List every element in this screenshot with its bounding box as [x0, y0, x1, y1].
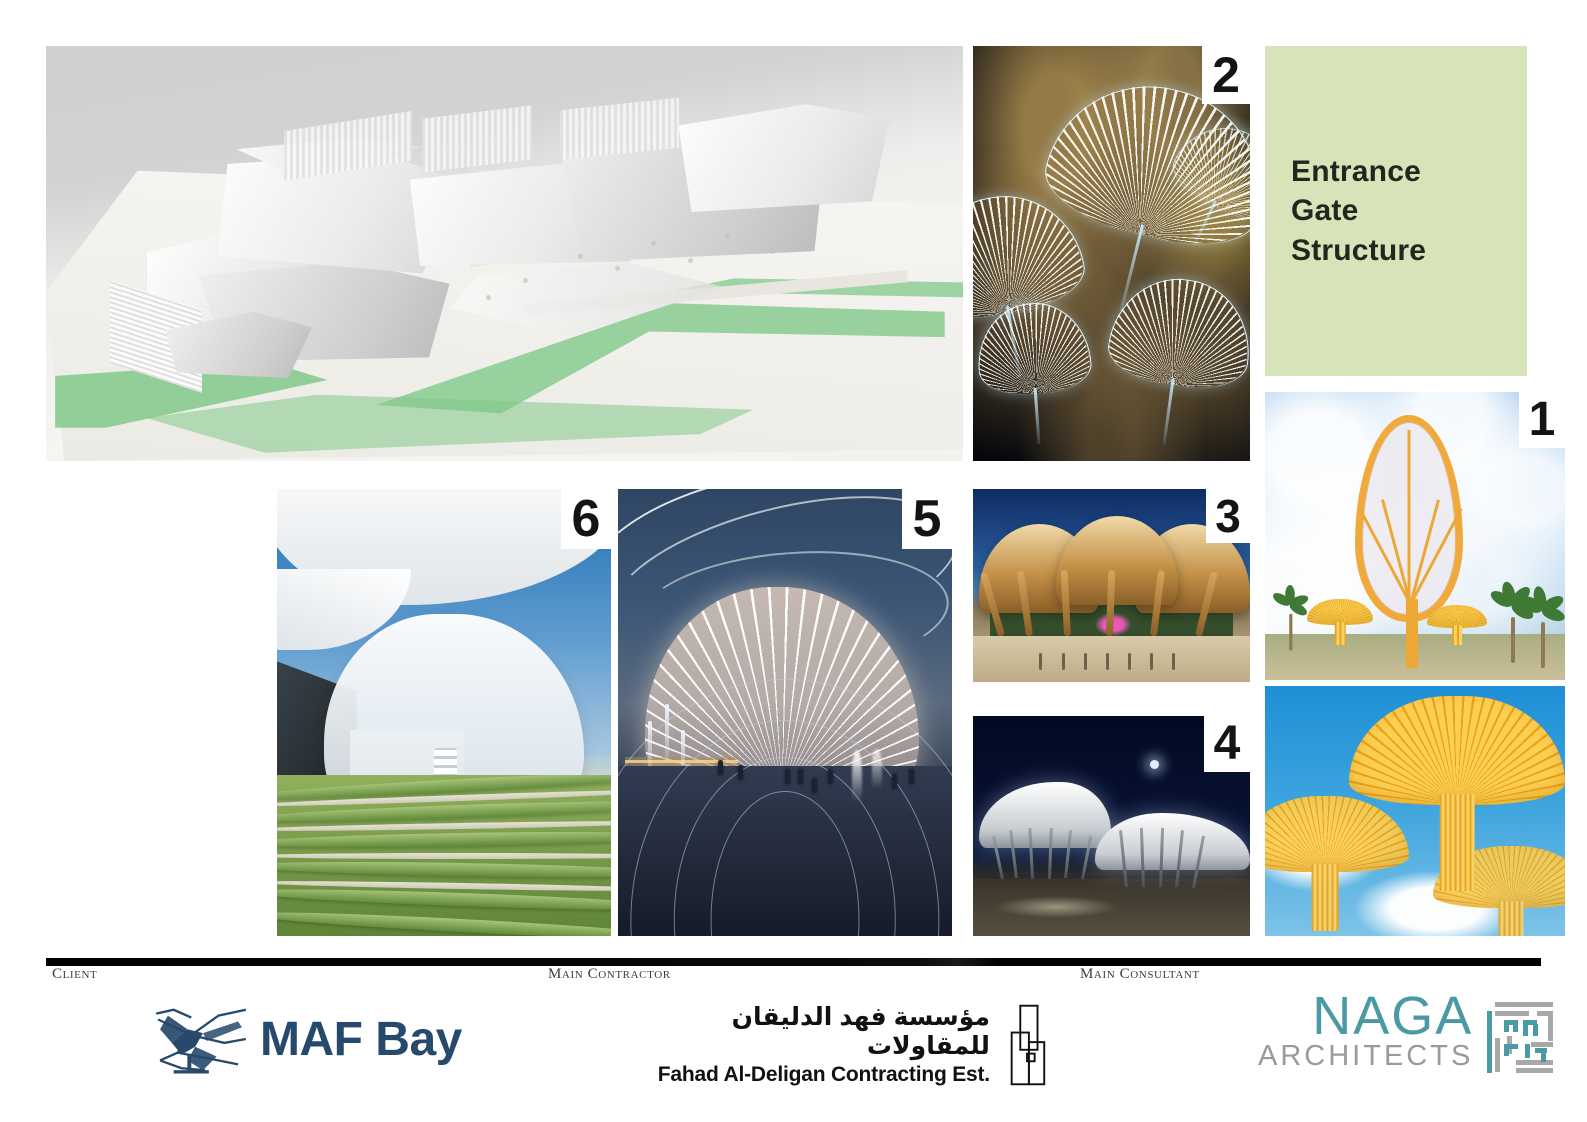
naga-kufic-mark-icon — [1485, 998, 1563, 1076]
small-parasol — [1307, 599, 1373, 645]
footer-contractor-column: Main Contractor مؤسسة فهد الدليقان للمقا… — [548, 966, 1048, 1122]
tile-badge-1: 1 — [1519, 392, 1565, 448]
fan-canopy — [974, 300, 1094, 448]
shell-canopy — [1095, 813, 1250, 870]
naga-subtitle: ARCHITECTS — [1258, 1042, 1473, 1071]
contractor-label: Main Contractor — [548, 966, 1048, 983]
palm-tree — [1529, 604, 1555, 668]
client-label: Client — [52, 966, 532, 983]
facade-louver — [422, 106, 532, 173]
tile-badge-5: 5 — [902, 489, 952, 549]
white-tensile-canopy-garden-render: 6 — [277, 489, 611, 936]
maf-bay-wordmark: MAF Bay — [260, 1012, 462, 1067]
parasol-canopy — [1349, 696, 1565, 891]
presentation-board: 2 Entrance Gate Structure — [0, 0, 1587, 1122]
title-line-2: Gate — [1291, 191, 1426, 231]
tile-badge-4: 4 — [1204, 716, 1250, 772]
small-parasol — [1427, 605, 1487, 645]
building-block — [670, 104, 890, 212]
leaf-gate-trunk — [1406, 599, 1418, 668]
maf-bay-mark-icon — [148, 1000, 256, 1078]
moon — [1150, 760, 1159, 769]
contractor-name-arabic: مؤسسة فهد الدليقان للمقاولات — [618, 1003, 990, 1062]
fahad-al-deligan-logo: مؤسسة فهد الدليقان للمقاولات Fahad Al-De… — [618, 1002, 1048, 1088]
plaza-floor — [618, 766, 952, 936]
footer-client-column: Client — [52, 966, 532, 1122]
title-panel: Entrance Gate Structure — [1265, 46, 1527, 376]
tile-badge-2: 2 — [1202, 46, 1250, 104]
footer-divider — [46, 958, 1541, 966]
title-line-3: Structure — [1291, 231, 1426, 271]
night-shell-canopy-photo: 4 — [973, 716, 1250, 936]
footer: Client — [0, 966, 1587, 1122]
hedge-garden — [277, 775, 611, 936]
title-line-1: Entrance — [1291, 152, 1426, 192]
paving — [973, 636, 1250, 682]
fan-canopy — [1096, 270, 1250, 454]
contractor-building-mark-icon — [1004, 1002, 1048, 1088]
footer-consultant-column: Main Consultant NAGA ARCHITECTS — [1080, 966, 1580, 1122]
palm-tree — [1280, 599, 1301, 650]
contractor-name-english: Fahad Al-Deligan Contracting Est. — [618, 1062, 990, 1087]
site-massing-render — [46, 46, 963, 461]
maf-bay-logo: MAF Bay — [148, 1000, 462, 1078]
timber-branching-gate-photo: 3 — [973, 489, 1250, 682]
golden-leaf-gate-photo: 1 — [1265, 392, 1565, 680]
naga-wordmark: NAGA — [1312, 992, 1473, 1042]
tile-badge-6: 6 — [561, 489, 611, 549]
night-plaza-funnel-render: 5 — [618, 489, 952, 936]
page-title: Entrance Gate Structure — [1265, 152, 1452, 271]
golden-parasol-canopy-photo — [1265, 686, 1565, 936]
naga-architects-logo: NAGA ARCHITECTS — [1258, 992, 1563, 1076]
palm-tree — [1499, 599, 1525, 663]
night-fan-canopy-photo: 2 — [973, 46, 1250, 461]
consultant-label: Main Consultant — [1080, 966, 1580, 983]
tile-badge-3: 3 — [1206, 489, 1250, 543]
